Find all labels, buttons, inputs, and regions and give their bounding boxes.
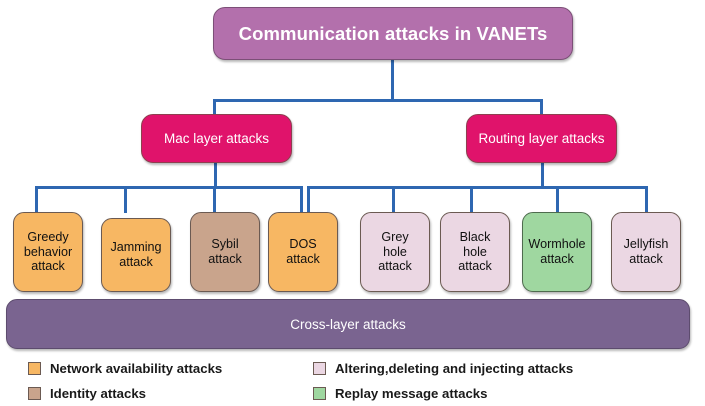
connector-to-routing-layer [540,99,543,115]
connector-mac-leaf-bus [35,186,303,189]
connector-routing-to-dos [307,186,310,213]
legend-item-network-availability: Network availability attacks [28,361,222,376]
connector-routing-to-wormhole [556,186,559,213]
legend-swatch-network-availability [28,362,41,375]
leaf-label-line2: behavior [24,245,72,260]
leaf-label-line1: Black [458,230,492,245]
node-dos-attack[interactable]: DOS attack [268,212,338,292]
node-jamming-attack[interactable]: Jamming attack [101,218,171,292]
node-sybil-attack[interactable]: Sybil attack [190,212,260,292]
legend-swatch-replay-message [313,387,326,400]
node-routing-layer-attacks[interactable]: Routing layer attacks [466,114,617,163]
legend-label-altering-deleting-injecting: Altering,deleting and injecting attacks [335,361,573,376]
connector-mac-to-dos [300,186,303,213]
node-cross-layer-attacks[interactable]: Cross-layer attacks [6,299,690,349]
connector-to-mac-layer [213,99,216,115]
node-greedy-behavior-attack[interactable]: Greedy behavior attack [13,212,83,292]
connector-mac-stem [214,163,217,188]
leaf-label-line2: attack [624,252,669,267]
leaf-label-line3: attack [458,259,492,274]
legend-label-replay-message: Replay message attacks [335,386,487,401]
node-mac-layer-label: Mac layer attacks [164,131,269,146]
leaf-label-line3: attack [378,259,412,274]
legend-label-network-availability: Network availability attacks [50,361,222,376]
connector-routing-to-jellyfish [645,186,648,213]
connector-mac-to-sybil [213,186,216,213]
legend-swatch-altering-deleting-injecting [313,362,326,375]
connector-mac-to-jamming [124,186,127,213]
diagram-canvas: Communication attacks in VANETs Mac laye… [0,0,705,406]
connector-routing-to-black-hole [470,186,473,213]
connector-root-stem [391,60,394,99]
leaf-label-line1: DOS [286,237,320,252]
leaf-label-line3: attack [24,259,72,274]
leaf-label-line2: hole [378,245,412,260]
legend-swatch-identity [28,387,41,400]
leaf-label-line2: attack [110,255,161,270]
legend-item-altering-deleting-injecting: Altering,deleting and injecting attacks [313,361,573,376]
connector-routing-stem [541,163,544,188]
node-routing-layer-label: Routing layer attacks [478,131,604,146]
legend-item-identity: Identity attacks [28,386,146,401]
connector-mac-to-greedy [35,186,38,213]
node-black-hole-attack[interactable]: Black hole attack [440,212,510,292]
connector-routing-leaf-bus [307,186,648,189]
leaf-label-line1: Sybil [208,237,242,252]
connector-level2-bus [213,99,543,102]
leaf-label-line2: attack [286,252,320,267]
leaf-label-line2: attack [208,252,242,267]
legend-item-replay-message: Replay message attacks [313,386,487,401]
node-wormhole-attack[interactable]: Wormhole attack [522,212,592,292]
leaf-label-line1: Wormhole [528,237,585,252]
node-mac-layer-attacks[interactable]: Mac layer attacks [141,114,292,163]
leaf-label-line2: hole [458,245,492,260]
leaf-label-line2: attack [528,252,585,267]
leaf-label-line1: Grey [378,230,412,245]
connector-routing-to-grey-hole [392,186,395,213]
node-grey-hole-attack[interactable]: Grey hole attack [360,212,430,292]
leaf-label-line1: Jellyfish [624,237,669,252]
node-jellyfish-attack[interactable]: Jellyfish attack [611,212,681,292]
node-root-label: Communication attacks in VANETs [239,23,548,45]
leaf-label-line1: Greedy [24,230,72,245]
cross-layer-label: Cross-layer attacks [290,317,406,332]
legend-label-identity: Identity attacks [50,386,146,401]
leaf-label-line1: Jamming [110,240,161,255]
node-root-communication-attacks[interactable]: Communication attacks in VANETs [213,7,573,60]
